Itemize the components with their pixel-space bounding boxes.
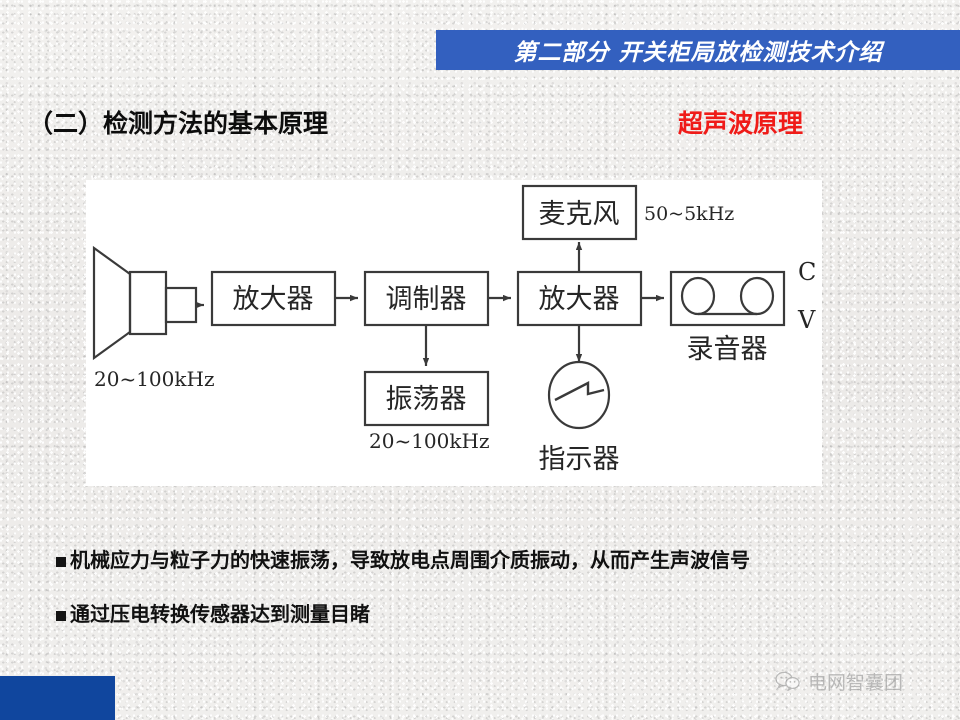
side-label-v: V: [797, 306, 816, 334]
section-banner: 第二部分 开关柜局放检测技术介绍: [436, 30, 960, 70]
page-title-main: （二）检测方法的基本原理: [28, 104, 328, 140]
node-indicator: [549, 362, 609, 428]
section-banner-text: 第二部分 开关柜局放检测技术介绍: [513, 33, 882, 67]
bullet-item: 机械应力与粒子力的快速振荡，导致放电点周围介质振动，从而产生声波信号: [56, 548, 750, 573]
footer-accent-block: [0, 676, 115, 720]
watermark-text: 电网智囊团: [808, 668, 903, 695]
node-indicator-caption: 指示器: [539, 444, 620, 475]
node-recorder-caption: 录音器: [687, 334, 768, 365]
bullet-item-text: 通过压电转换传感器达到测量目睹: [70, 602, 370, 627]
node-recorder: [671, 272, 784, 325]
node-amp2-label: 放大器: [539, 284, 620, 315]
node-oscillator-label: 振荡器: [386, 384, 467, 415]
oscillator-frequency-label: 20~100kHz: [369, 429, 489, 453]
square-bullet-icon: [56, 557, 66, 567]
bullet-item: 通过压电转换传感器达到测量目睹: [56, 602, 370, 627]
page-title-accent: 超声波原理: [678, 104, 803, 140]
block-diagram-figure: 放大器 调制器 振荡器 放大器 麦克风 录音器 指示器 20~100kHz 20…: [86, 180, 822, 486]
side-label-c: C: [798, 258, 816, 286]
horn-frequency-label: 20~100kHz: [94, 367, 214, 391]
node-amp1-label: 放大器: [233, 284, 314, 315]
square-bullet-icon: [56, 611, 66, 621]
speaker-horn-icon: [94, 248, 196, 358]
slide-canvas: 第二部分 开关柜局放检测技术介绍 （二）检测方法的基本原理 超声波原理: [0, 0, 960, 720]
node-microphone-label: 麦克风: [539, 199, 620, 230]
page-title: （二）检测方法的基本原理 超声波原理: [28, 104, 928, 140]
microphone-frequency-label: 50~5kHz: [644, 203, 734, 225]
block-diagram-svg: 放大器 调制器 振荡器 放大器 麦克风 录音器 指示器 20~100kHz 20…: [86, 180, 822, 486]
node-modulator-label: 调制器: [386, 284, 467, 315]
bullet-item-text: 机械应力与粒子力的快速振荡，导致放电点周围介质振动，从而产生声波信号: [70, 548, 750, 573]
wechat-icon: [775, 671, 801, 691]
watermark: 电网智囊团: [775, 664, 903, 698]
